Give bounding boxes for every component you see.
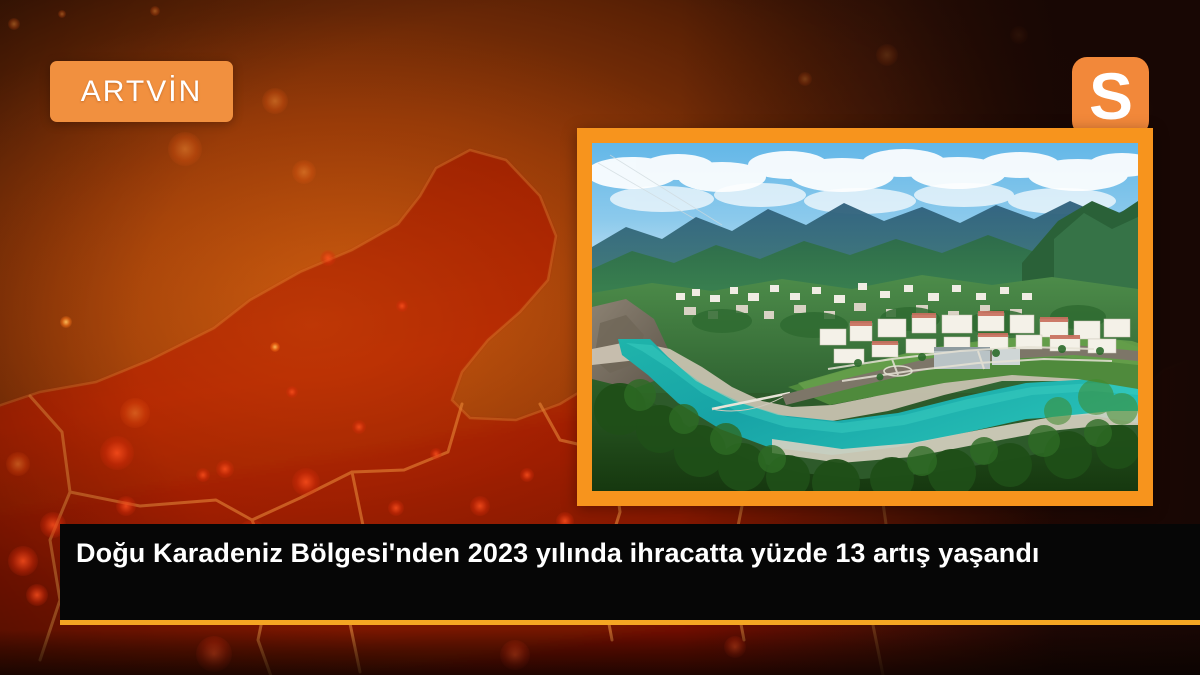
headline-text: Doğu Karadeniz Bölgesi'nden 2023 yılında… [76,536,1184,571]
news-card: ARTVİN S [0,0,1200,675]
article-photo-frame [577,128,1153,506]
headline-banner: Doğu Karadeniz Bölgesi'nden 2023 yılında… [60,524,1200,625]
city-aerial-photo [592,143,1138,491]
brand-s-logo[interactable]: S [1072,57,1149,136]
city-badge-label: ARTVİN [81,77,202,107]
brand-logo-letter: S [1089,63,1132,129]
city-badge[interactable]: ARTVİN [50,61,233,122]
